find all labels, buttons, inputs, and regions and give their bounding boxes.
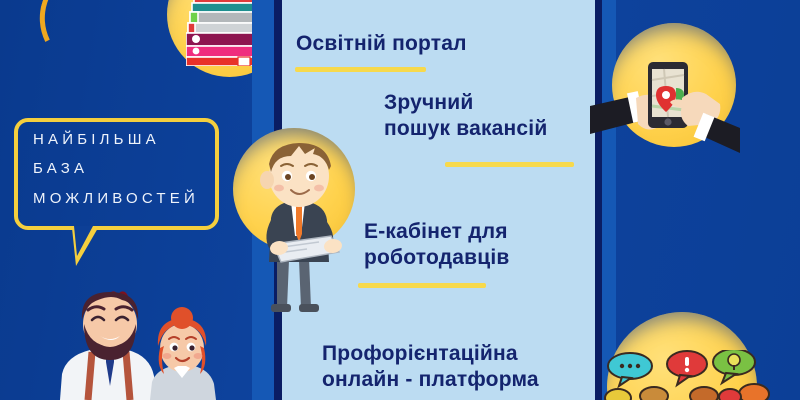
poster-canvas: Освітній портал Зручний пошук вакансій Е… (0, 0, 800, 400)
couple-characters-icon (34, 290, 224, 400)
speech-bubble-line-2: БАЗА (33, 160, 88, 177)
heading-career-platform: Профорієнтаційна онлайн - платформа (322, 341, 539, 392)
heading-job-search: Зручний пошук вакансій (384, 90, 547, 141)
hand-phone-map-icon (590, 48, 740, 153)
heading-rule-3 (358, 283, 486, 288)
heading-employer-cabinet: Е-кабінет для роботодавців (364, 219, 509, 270)
speech-bubble-line-3: МОЖЛИВОСТЕЙ (33, 190, 199, 207)
speech-bubble-tail-inner (74, 226, 93, 256)
speech-bubble-line-1: НАЙБІЛЬША (33, 131, 160, 148)
speech-bubbles-group-icon (604, 350, 780, 400)
heading-rule-2 (445, 162, 574, 167)
heading-educational-portal: Освітній портал (296, 31, 467, 57)
businessman-tablet-icon (243, 140, 353, 320)
heading-rule-1 (295, 67, 426, 72)
